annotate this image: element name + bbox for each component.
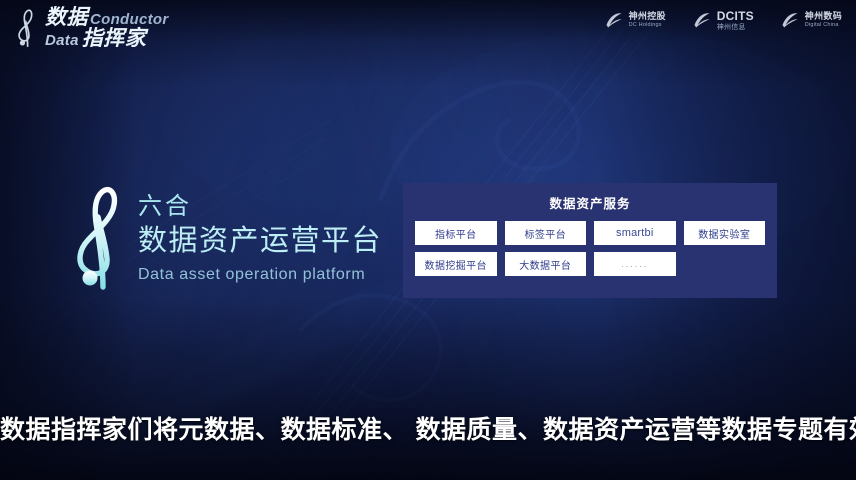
partner-logo-dc-holdings: 神州控股 DC Holdings [604,10,666,30]
service-chip-shuju-shiyanshi[interactable]: 数据实验室 [684,221,766,245]
brand-logo: 数据 Conductor Data 指挥家 [14,6,169,49]
slide-caption: 数据指挥家们将元数据、数据标准、 数据质量、数据资产运营等数据专题有效融合 [0,415,856,445]
data-asset-service-card: 数据资产服务 指标平台 标签平台 smartbi 数据实验室 数据挖掘平台 大数… [403,183,777,298]
brand-wordmark: 数据 Conductor Data 指挥家 [45,7,169,49]
partner-logo-dcits: DCITS 神州信息 [692,10,754,31]
brand-line-2: Data 指挥家 [45,28,169,49]
service-chip-shuju-wajue-pingtai[interactable]: 数据挖掘平台 [415,252,497,276]
service-chip-empty-slot [684,252,766,276]
partner-name-cn: DCITS [717,10,754,23]
partner-name-cn: 神州控股 [629,12,666,21]
partner-logo-digital-china: 神州数码 Digital China [780,10,842,30]
treble-clef-icon [70,183,132,295]
partner-text: DCITS 神州信息 [717,10,754,31]
service-chip-biaoqian-pingtai[interactable]: 标签平台 [505,221,587,245]
hero-line-3-subtitle: Data asset operation platform [138,264,382,286]
service-chip-more[interactable]: ...... [594,252,676,276]
service-chip-zhibiao-pingtai[interactable]: 指标平台 [415,221,497,245]
service-chip-rows: 指标平台 标签平台 smartbi 数据实验室 数据挖掘平台 大数据平台 ...… [415,221,765,276]
partner-name-en: DC Holdings [629,23,666,29]
brand-line-1: 数据 Conductor [45,7,169,28]
slide-root: 数据 Conductor Data 指挥家 神州控股 DC Holdi [0,0,856,480]
service-chip-row: 数据挖掘平台 大数据平台 ...... [415,252,765,276]
partner-text: 神州控股 DC Holdings [629,12,666,28]
treble-clef-icon [14,7,40,49]
partner-name-en: Digital China [805,23,842,29]
service-chip-smartbi[interactable]: smartbi [594,221,676,245]
swoosh-logo-icon [692,10,712,30]
brand-cn-primary: 数据 [45,7,88,28]
hero-line-2: 数据资产运营平台 [138,223,382,261]
service-chip-row: 指标平台 标签平台 smartbi 数据实验室 [415,221,765,245]
brand-en-conductor: Conductor [90,12,169,27]
hero-text: 六合 数据资产运营平台 Data asset operation platfor… [138,192,382,285]
service-chip-dashuju-pingtai[interactable]: 大数据平台 [505,252,587,276]
partner-logo-group: 神州控股 DC Holdings DCITS 神州信息 [604,10,842,31]
brand-en-data: Data [45,33,79,48]
service-card-title: 数据资产服务 [415,193,765,212]
hero-title-block: 六合 数据资产运营平台 Data asset operation platfor… [70,183,382,295]
partner-text: 神州数码 Digital China [805,12,842,28]
swoosh-logo-icon [604,10,624,30]
hero-line-1: 六合 [138,192,382,222]
header: 数据 Conductor Data 指挥家 神州控股 DC Holdi [0,0,856,56]
partner-name-cn: 神州数码 [805,12,842,21]
swoosh-logo-icon [780,10,800,30]
partner-name-en: 神州信息 [717,24,754,31]
brand-cn-secondary: 指挥家 [82,28,147,49]
